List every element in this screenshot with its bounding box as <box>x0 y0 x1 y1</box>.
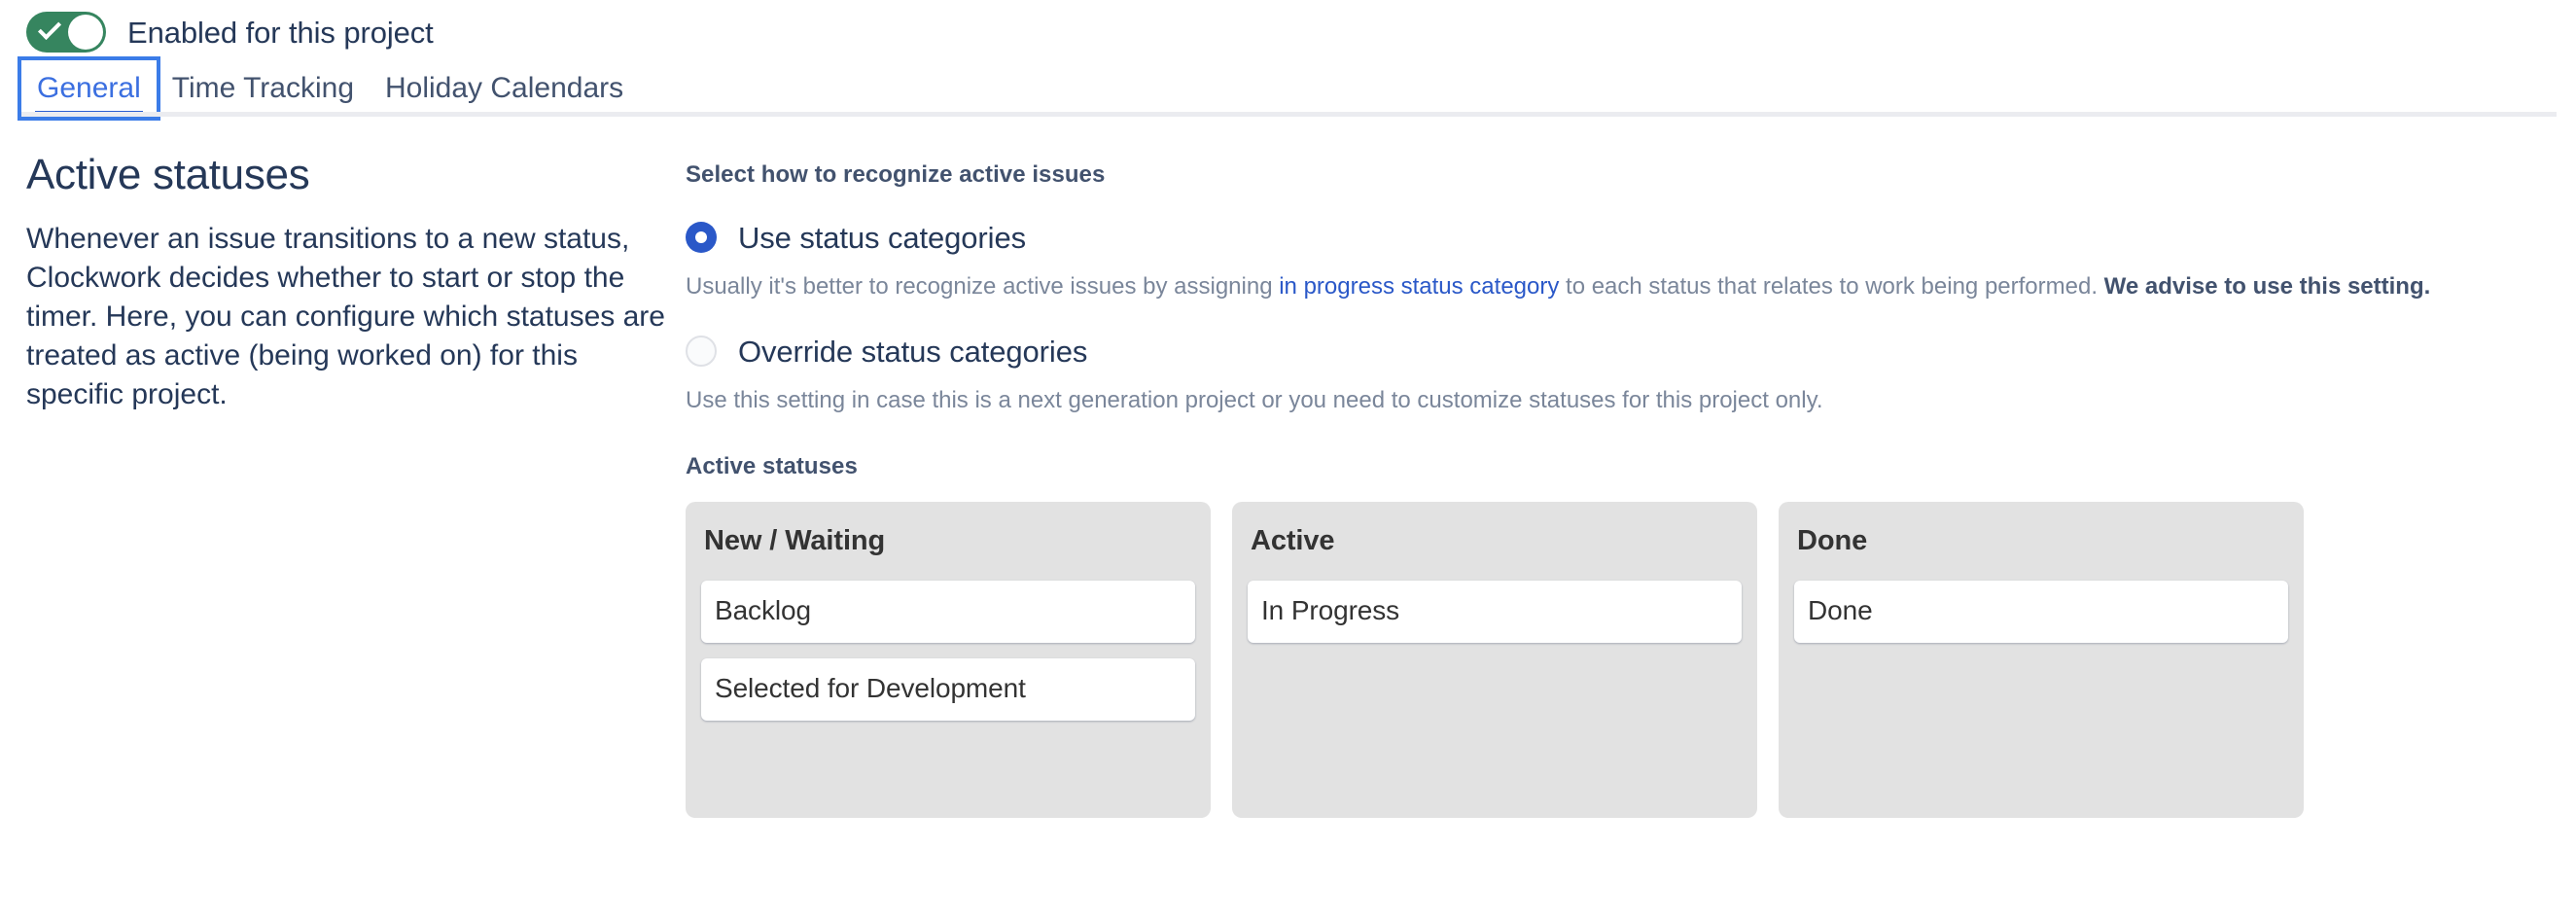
status-columns: New / Waiting Backlog Selected for Devel… <box>686 502 2576 818</box>
left-description-panel: Active statuses Whenever an issue transi… <box>0 152 681 818</box>
radio-use-status-categories-label: Use status categories <box>738 223 1026 253</box>
status-column-active[interactable]: Active In Progress <box>1232 502 1757 818</box>
tabs-divider <box>21 112 2557 117</box>
enable-project-row: Enabled for this project <box>0 0 2576 43</box>
status-card[interactable]: Selected for Development <box>701 658 1195 721</box>
status-column-new-waiting[interactable]: New / Waiting Backlog Selected for Devel… <box>686 502 1211 818</box>
page-title: Active statuses <box>26 152 681 198</box>
use-status-categories-helper: Usually it's better to recognize active … <box>686 270 2465 302</box>
tab-general-label: General <box>37 72 141 104</box>
status-column-active-title: Active <box>1248 521 1742 557</box>
tab-holiday-calendars-label: Holiday Calendars <box>385 72 623 104</box>
radio-override-status-categories[interactable]: Override status categories <box>686 336 2576 367</box>
tab-time-tracking[interactable]: Time Tracking <box>157 74 370 117</box>
settings-tabs: General Time Tracking Holiday Calendars <box>0 62 2576 117</box>
page-description: Whenever an issue transitions to a new s… <box>26 220 668 414</box>
toggle-knob <box>68 15 103 50</box>
helper-advice-text: We advise to use this setting. <box>2104 273 2431 300</box>
enabled-for-project-label: Enabled for this project <box>127 18 434 48</box>
override-status-categories-helper: Use this setting in case this is a next … <box>686 384 2465 416</box>
status-card[interactable]: Backlog <box>701 581 1195 643</box>
in-progress-status-category-link[interactable]: in progress status category <box>1279 273 1559 300</box>
settings-body: Active statuses Whenever an issue transi… <box>0 117 2576 818</box>
status-card[interactable]: Done <box>1794 581 2288 643</box>
radio-unselected-icon[interactable] <box>686 336 717 367</box>
status-column-done[interactable]: Done Done <box>1779 502 2304 818</box>
helper-prefix-text: Usually it's better to recognize active … <box>686 273 1279 300</box>
tab-time-tracking-label: Time Tracking <box>172 72 354 104</box>
tab-holiday-calendars[interactable]: Holiday Calendars <box>370 74 639 117</box>
enabled-for-project-toggle[interactable] <box>26 12 106 53</box>
right-settings-panel: Select how to recognize active issues Us… <box>681 152 2576 818</box>
radio-use-status-categories[interactable]: Use status categories <box>686 222 2576 253</box>
radio-selected-icon[interactable] <box>686 222 717 253</box>
helper-middle-text: to each status that relates to work bein… <box>1559 273 2103 300</box>
status-card[interactable]: In Progress <box>1248 581 1742 643</box>
radio-override-status-categories-label: Override status categories <box>738 336 1087 367</box>
status-column-done-title: Done <box>1794 521 2288 557</box>
active-statuses-label: Active statuses <box>686 453 2576 480</box>
recognize-active-issues-label: Select how to recognize active issues <box>686 161 2576 189</box>
status-column-new-waiting-title: New / Waiting <box>701 521 1195 557</box>
check-icon <box>38 17 61 40</box>
tab-general[interactable]: General <box>21 60 157 117</box>
